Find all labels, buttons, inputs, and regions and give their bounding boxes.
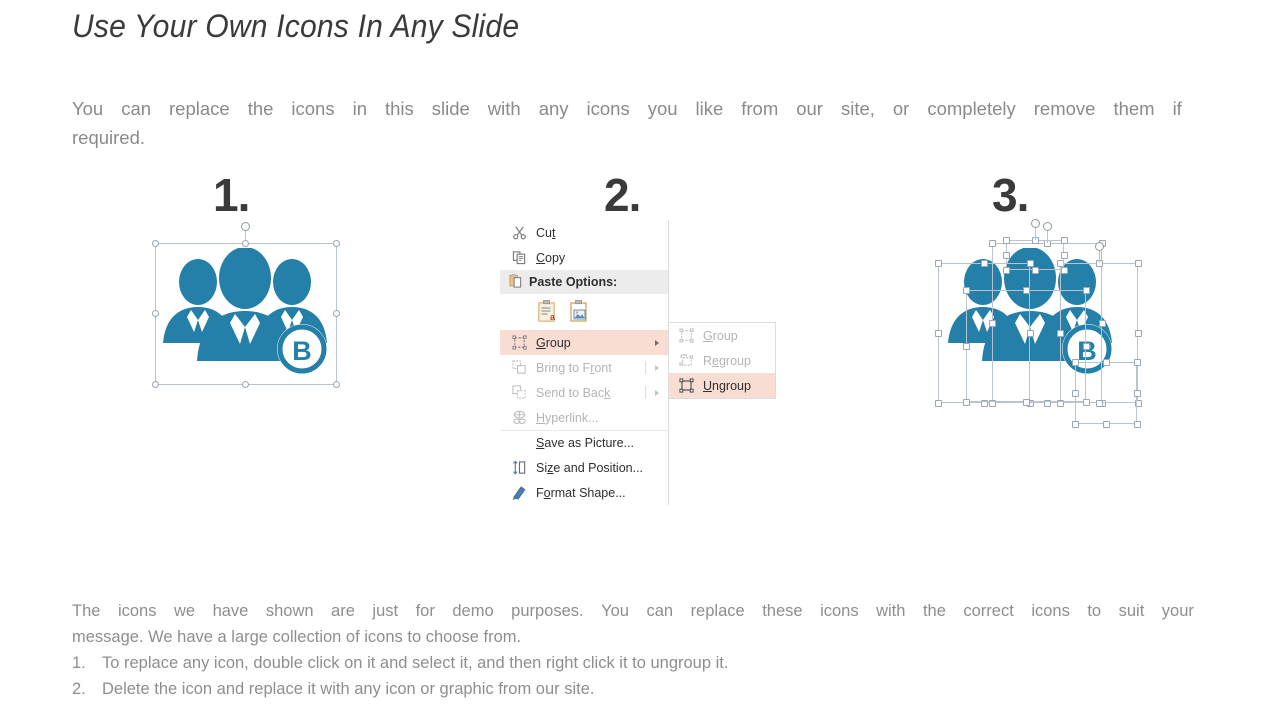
intro-word: if xyxy=(1173,94,1182,123)
selection-handle[interactable] xyxy=(1103,359,1110,366)
selection-handle-e[interactable] xyxy=(333,310,340,317)
rotation-stem xyxy=(1035,227,1036,240)
selection-handle[interactable] xyxy=(963,287,970,294)
bottom-word: replace xyxy=(691,598,745,624)
selection-handle[interactable] xyxy=(1072,421,1079,428)
selection-handle[interactable] xyxy=(1083,343,1090,350)
selection-handle-se[interactable] xyxy=(333,381,340,388)
list-marker-1: 1. xyxy=(72,650,102,676)
intro-word: icons xyxy=(587,94,630,123)
bring-to-front-icon xyxy=(508,360,530,375)
selection-box-4 xyxy=(966,290,1086,402)
intro-word: remove xyxy=(1034,94,1096,123)
selection-handle-sw[interactable] xyxy=(152,381,159,388)
submenu-item-regroup: Regroup xyxy=(669,348,775,373)
hyperlink-icon xyxy=(508,410,530,425)
submenu-item-label: Ungroup xyxy=(697,379,751,393)
intro-line-1: Youcanreplacetheiconsinthisslidewithanyi… xyxy=(72,94,1182,123)
bottom-word: just xyxy=(372,598,398,624)
bottom-word: can xyxy=(646,598,673,624)
copy-icon xyxy=(508,250,530,265)
ungroup-icon xyxy=(675,378,697,393)
group-submenu[interactable]: GroupRegroupUngroup xyxy=(668,322,776,399)
bottom-word: have xyxy=(213,598,249,624)
selection-handle[interactable] xyxy=(1135,330,1142,337)
intro-word: You xyxy=(72,94,103,123)
menu-item-label: Size and Position... xyxy=(530,461,643,475)
list-text-1: To replace any icon, double click on it … xyxy=(102,650,728,676)
menu-item-label: Hyperlink... xyxy=(530,411,599,425)
rotation-handle[interactable] xyxy=(1031,219,1040,228)
bottom-word: demo xyxy=(452,598,493,624)
intro-word: slide xyxy=(432,94,470,123)
bottom-word: to xyxy=(1087,598,1101,624)
menu-item-cut[interactable]: Cut xyxy=(500,220,668,245)
bottom-word: You xyxy=(601,598,629,624)
intro-word: completely xyxy=(927,94,1015,123)
selection-handle[interactable] xyxy=(1103,421,1110,428)
selection-box-6 xyxy=(1006,240,1064,270)
intro-word: site, xyxy=(841,94,875,123)
page-title: Use Your Own Icons In Any Slide xyxy=(72,8,519,45)
selection-handle-ne[interactable] xyxy=(333,240,340,247)
menu-divider xyxy=(645,361,646,374)
selection-handle[interactable] xyxy=(1134,390,1141,397)
rotation-stem xyxy=(1099,250,1100,263)
step-number-3: 3. xyxy=(992,172,1028,218)
submenu-item-label: Regroup xyxy=(697,354,751,368)
menu-item-hyperlink: Hyperlink... xyxy=(500,405,668,430)
intro-word: in xyxy=(353,94,367,123)
svg-text:a: a xyxy=(550,312,556,322)
submenu-item-label: Group xyxy=(697,329,738,343)
selection-handle-w[interactable] xyxy=(152,310,159,317)
selection-handle[interactable] xyxy=(935,330,942,337)
intro-word: can xyxy=(121,94,151,123)
paste-picture-icon[interactable] xyxy=(568,299,590,326)
scissors-icon xyxy=(508,225,530,240)
paste-options-label: Paste Options: xyxy=(523,275,617,289)
selection-handle[interactable] xyxy=(1003,267,1010,274)
rotation-handle-1[interactable] xyxy=(241,222,250,231)
bottom-para-line-2: message. We have a large collection of i… xyxy=(72,624,1194,650)
intro-word: them xyxy=(1113,94,1154,123)
selection-box-5 xyxy=(1075,362,1137,424)
selection-handle[interactable] xyxy=(1083,287,1090,294)
format-shape-icon xyxy=(508,485,530,501)
selection-handle[interactable] xyxy=(1023,287,1030,294)
selection-handle[interactable] xyxy=(963,343,970,350)
bottom-word: purposes. xyxy=(511,598,583,624)
chevron-right-icon xyxy=(655,390,659,396)
selection-handle[interactable] xyxy=(1072,390,1079,397)
selection-handle[interactable] xyxy=(1061,237,1068,244)
intro-word: you xyxy=(648,94,678,123)
selection-handle-n[interactable] xyxy=(242,240,249,247)
menu-item-bring-to-front: Bring to Front xyxy=(500,355,668,380)
bottom-word: correct xyxy=(963,598,1013,624)
group-icon xyxy=(508,335,530,350)
selection-handle[interactable] xyxy=(1061,252,1068,259)
selection-handle[interactable] xyxy=(981,260,988,267)
intro-word: any xyxy=(539,94,569,123)
bottom-word: The xyxy=(72,598,100,624)
bottom-word: your xyxy=(1162,598,1194,624)
bottom-word: icons xyxy=(1031,598,1070,624)
menu-item-send-to-back: Send to Back xyxy=(500,380,668,405)
paste-options-row[interactable]: a xyxy=(500,294,668,330)
submenu-item-ungroup[interactable]: Ungroup xyxy=(669,373,775,398)
selection-handle[interactable] xyxy=(1072,359,1079,366)
chevron-right-icon xyxy=(655,340,659,346)
submenu-item-group: Group xyxy=(669,323,775,348)
selection-handle[interactable] xyxy=(1134,359,1141,366)
bottom-para-line-1: Theiconswehaveshownarejustfordemopurpose… xyxy=(72,598,1194,624)
chevron-right-icon xyxy=(655,365,659,371)
intro-word: from xyxy=(741,94,778,123)
step-number-2: 2. xyxy=(604,172,640,218)
group-icon xyxy=(675,328,697,343)
menu-item-label: Copy xyxy=(530,251,565,265)
bottom-word: icons xyxy=(118,598,157,624)
menu-item-label: Send to Back xyxy=(530,386,610,400)
intro-word: replace xyxy=(169,94,230,123)
selection-handle[interactable] xyxy=(1003,252,1010,259)
menu-item-label: Format Shape... xyxy=(530,486,626,500)
intro-word: our xyxy=(796,94,823,123)
menu-item-label: Bring to Front xyxy=(530,361,612,375)
selection-box-1 xyxy=(155,243,337,385)
bottom-word: icons xyxy=(820,598,859,624)
menu-item-label: Group xyxy=(530,336,571,350)
list-text-2: Delete the icon and replace it with any … xyxy=(102,676,595,702)
selection-handle[interactable] xyxy=(989,240,996,247)
selection-handle[interactable] xyxy=(1134,421,1141,428)
selection-handle[interactable] xyxy=(1023,399,1030,406)
size-position-icon xyxy=(508,460,530,476)
rotation-handle[interactable] xyxy=(1043,222,1052,231)
bottom-word: shown xyxy=(266,598,314,624)
selection-handle[interactable] xyxy=(963,399,970,406)
clipboard-icon xyxy=(508,273,523,292)
intro-word: icons xyxy=(291,94,334,123)
selection-handle[interactable] xyxy=(1061,267,1068,274)
send-to-back-icon xyxy=(508,385,530,400)
selection-handle[interactable] xyxy=(1003,237,1010,244)
intro-word: or xyxy=(893,94,909,123)
list-marker-2: 2. xyxy=(72,676,102,702)
bottom-word: we xyxy=(174,598,195,624)
bottom-list-item-2: 2. Delete the icon and replace it with a… xyxy=(72,676,1194,702)
intro-word: this xyxy=(385,94,414,123)
selection-handle[interactable] xyxy=(935,260,942,267)
selection-handle[interactable] xyxy=(1135,260,1142,267)
menu-item-format-shape[interactable]: Format Shape... xyxy=(500,480,668,505)
bottom-word: for xyxy=(416,598,435,624)
intro-word: the xyxy=(248,94,274,123)
menu-item-copy[interactable]: Copy xyxy=(500,245,668,270)
intro-word: with xyxy=(488,94,521,123)
context-menu[interactable]: CutCopyPaste Options:aGroupBring to Fron… xyxy=(500,220,669,505)
bottom-word: with xyxy=(876,598,905,624)
bottom-word: suit xyxy=(1119,598,1145,624)
selection-handle-s[interactable] xyxy=(242,381,249,388)
menu-item-label: Cut xyxy=(530,226,555,240)
slide-canvas: Use Your Own Icons In Any Slide Youcanre… xyxy=(0,0,1280,720)
menu-item-size-and-position[interactable]: Size and Position... xyxy=(500,455,668,480)
menu-item-label: Save as Picture... xyxy=(530,436,634,450)
paste-keep-formatting-icon[interactable]: a xyxy=(536,299,558,326)
paste-options-header: Paste Options: xyxy=(500,270,668,294)
selection-handle[interactable] xyxy=(935,400,942,407)
menu-item-group[interactable]: Group xyxy=(500,330,668,355)
menu-item-save-as-picture[interactable]: Save as Picture... xyxy=(500,430,668,455)
rotation-handle[interactable] xyxy=(1095,242,1104,251)
intro-word: like xyxy=(696,94,724,123)
intro-paragraph: Youcanreplacetheiconsinthisslidewithanyi… xyxy=(72,94,1192,152)
menu-divider xyxy=(645,386,646,399)
bottom-list-item-1: 1. To replace any icon, double click on … xyxy=(72,650,1194,676)
bottom-text-block: Theiconswehaveshownarejustfordemopurpose… xyxy=(72,598,1194,702)
bottom-word: these xyxy=(762,598,802,624)
bottom-word: are xyxy=(331,598,355,624)
regroup-icon xyxy=(675,353,697,368)
bottom-word: the xyxy=(923,598,946,624)
intro-line-2: required. xyxy=(72,123,1192,152)
selection-handle[interactable] xyxy=(1032,267,1039,274)
selection-handle-nw[interactable] xyxy=(152,240,159,247)
step-number-1: 1. xyxy=(213,172,249,218)
